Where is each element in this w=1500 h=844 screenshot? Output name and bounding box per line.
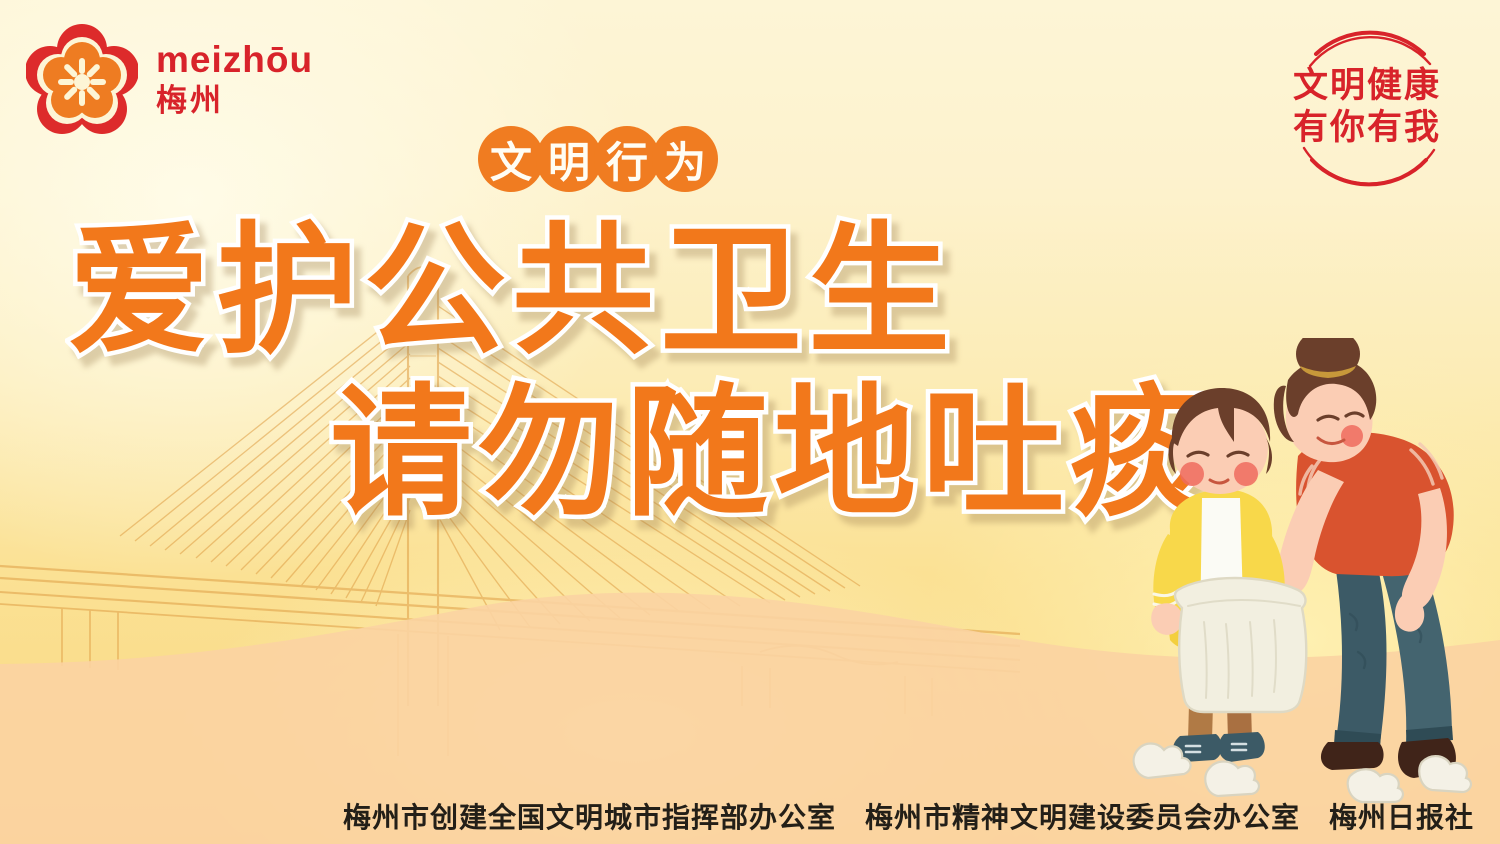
footer-organizations: 梅州市创建全国文明城市指挥部办公室 梅州市精神文明建设委员会办公室 梅州日报社: [343, 802, 1474, 833]
civility-health-seal: 文明健康 有你有我: [1258, 14, 1476, 200]
badge-char-2: 明: [536, 126, 602, 192]
footer-bar: 梅州市创建全国文明城市指挥部办公室 梅州市精神文明建设委员会办公室 梅州日报社: [0, 796, 1500, 836]
logo-pinyin: meizhōu: [156, 41, 313, 78]
badge-char-4: 为: [652, 126, 718, 192]
logo-chinese-name: 梅州: [156, 85, 313, 116]
city-logo: meizhōu 梅州: [26, 22, 313, 134]
badge-char-1: 文: [478, 126, 544, 192]
plum-blossom-logo-icon: [26, 22, 138, 134]
civilized-behavior-badge: 文 明 行 为: [478, 126, 710, 192]
seal-line-1: 文明健康: [1293, 67, 1441, 105]
headline-line-1: 爱护公共卫生: [0, 208, 1230, 376]
seal-line-2: 有你有我: [1293, 109, 1441, 147]
mother-and-child-illustration: [1122, 338, 1494, 808]
headline-block: 爱护公共卫生 请勿随地吐痰: [0, 208, 1230, 537]
badge-char-3: 行: [594, 126, 660, 192]
poster-canvas: meizhōu 梅州 文明健康 有你有我 文 明 行 为 爱护公共卫生 请勿随地…: [0, 0, 1500, 844]
headline-line-2: 请勿随地吐痰: [0, 370, 1230, 538]
